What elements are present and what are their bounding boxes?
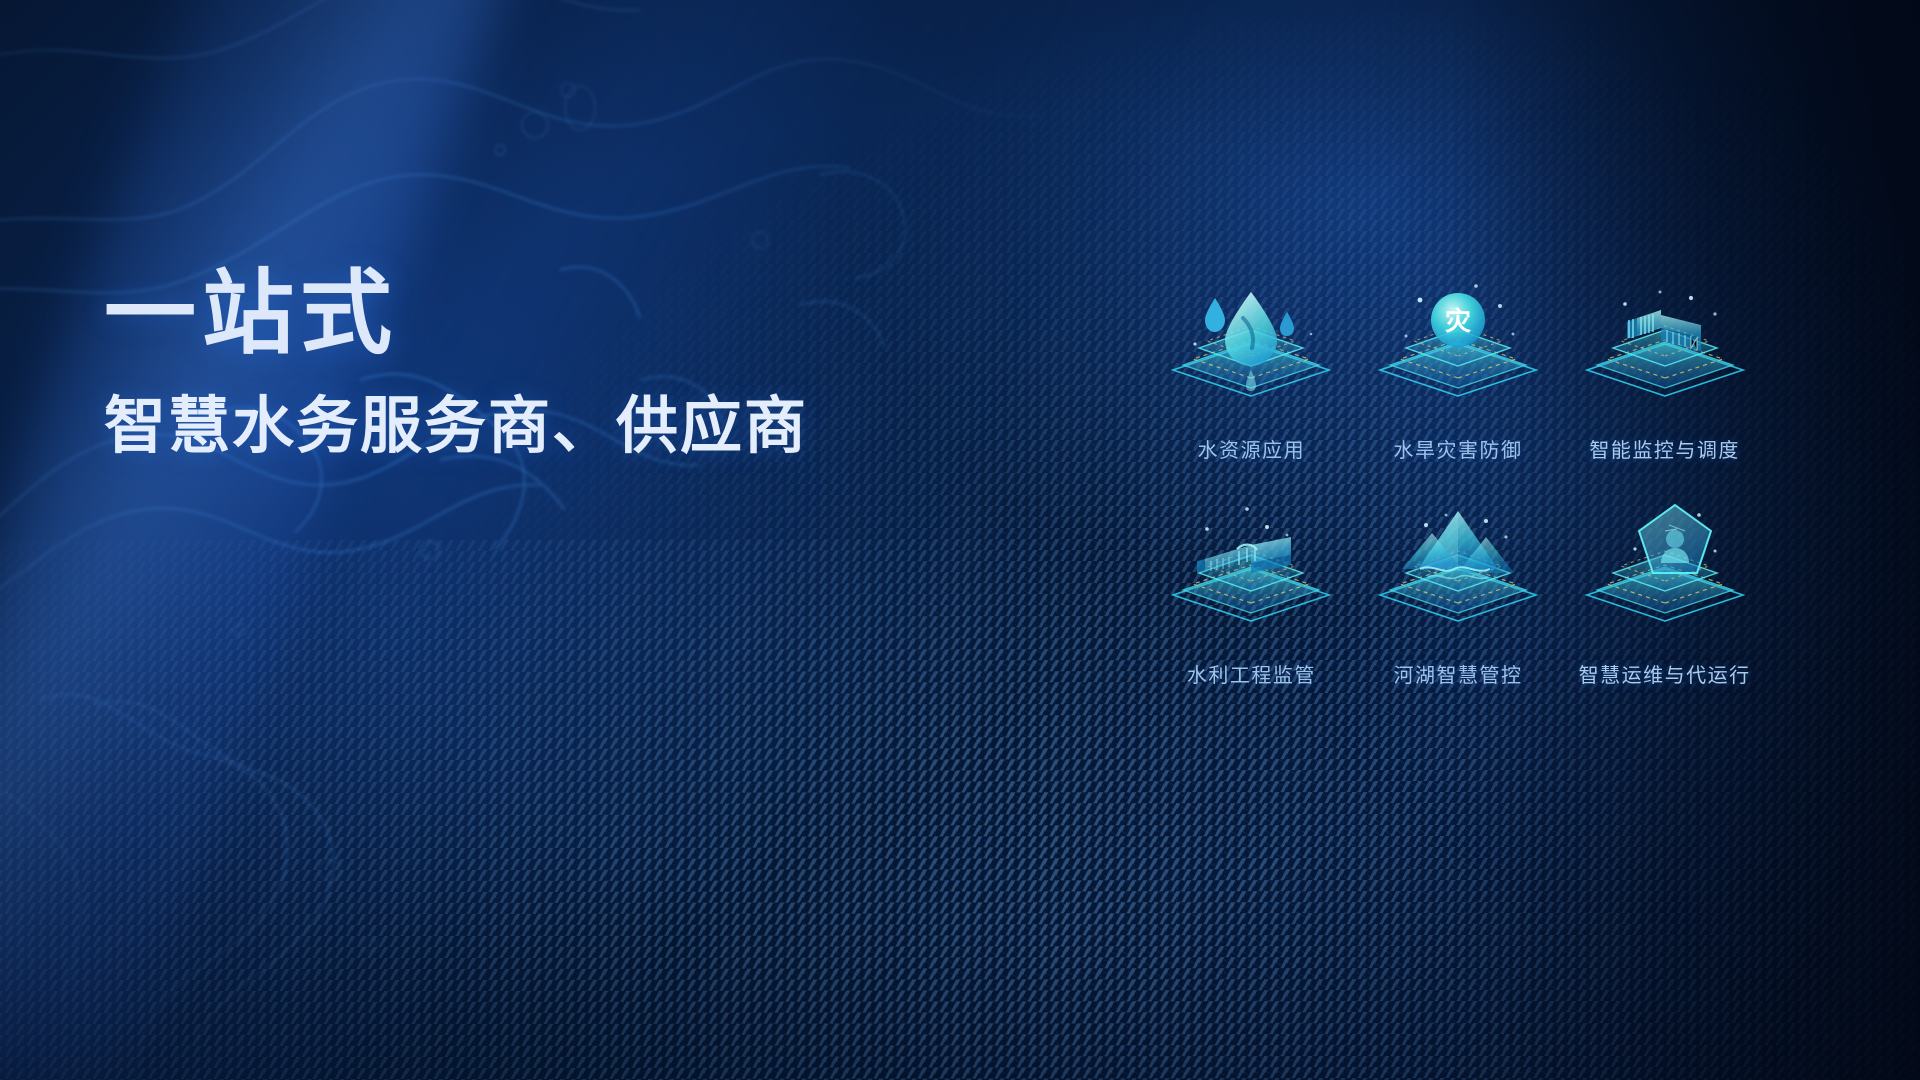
service-item-water-resource[interactable]: 水资源应用 [1148,278,1355,463]
service-label: 水资源应用 [1198,434,1306,463]
service-label: 河湖智慧管控 [1393,659,1522,688]
headline-block: 一站式 智慧水务服务商、供应商 [104,268,1024,461]
page-subtitle: 智慧水务服务商、供应商 [104,394,1024,461]
dam-monitor-icon [1565,278,1765,428]
shield-operation-icon [1565,503,1765,653]
disaster-sphere-icon: 灾 [1358,278,1558,428]
disaster-glyph: 灾 [1445,306,1471,336]
service-icon-grid: 水资源应用 [1148,278,1768,688]
service-item-smart-monitor-dispatch[interactable]: 智能监控与调度 [1561,278,1768,463]
mountain-river-icon [1358,503,1558,653]
service-label: 水旱灾害防御 [1393,434,1522,463]
service-item-smart-ops-operation[interactable]: 智慧运维与代运行 [1561,503,1768,688]
water-droplet-icon [1151,278,1351,428]
service-label: 智能监控与调度 [1589,434,1740,463]
service-item-water-project-supervision[interactable]: 水利工程监管 [1148,503,1355,688]
slide-canvas: 一站式 智慧水务服务商、供应商 [0,0,1920,1080]
service-label: 水利工程监管 [1187,659,1316,688]
service-item-flood-drought-defense[interactable]: 灾 水旱灾害防御 [1355,278,1562,463]
page-title: 一站式 [104,268,1024,360]
service-item-river-lake-management[interactable]: 河湖智慧管控 [1355,503,1562,688]
engineering-structure-icon [1151,503,1351,653]
service-label: 智慧运维与代运行 [1579,659,1751,688]
